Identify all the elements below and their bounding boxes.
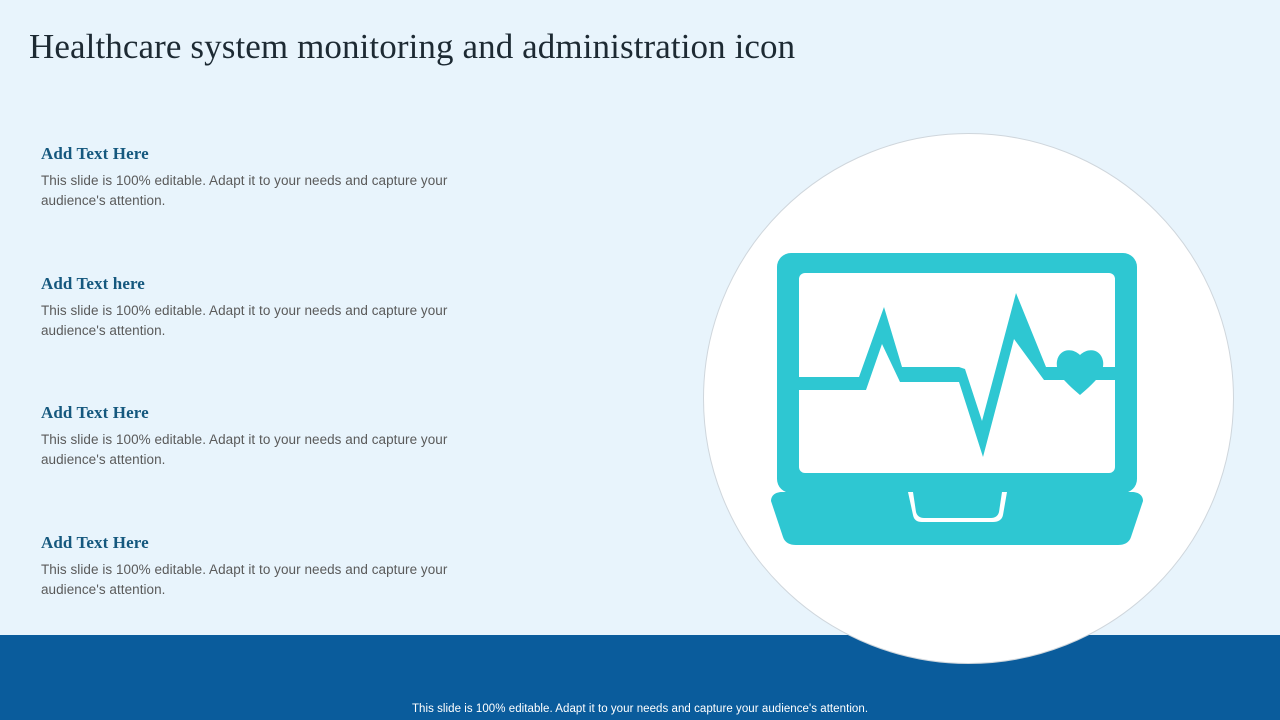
laptop-base <box>771 492 1143 545</box>
footer-caption: This slide is 100% editable. Adapt it to… <box>0 702 1280 716</box>
content-block: Add Text Here This slide is 100% editabl… <box>41 532 496 599</box>
content-block: Add Text here This slide is 100% editabl… <box>41 273 496 340</box>
content-block: Add Text Here This slide is 100% editabl… <box>41 143 496 210</box>
content-block: Add Text Here This slide is 100% editabl… <box>41 402 496 469</box>
block-body-text: This slide is 100% editable. Adapt it to… <box>41 560 489 599</box>
block-heading: Add Text Here <box>41 402 496 424</box>
slide-canvas: Healthcare system monitoring and adminis… <box>0 0 1280 720</box>
block-body-text: This slide is 100% editable. Adapt it to… <box>41 301 489 340</box>
block-heading: Add Text Here <box>41 143 496 165</box>
page-title: Healthcare system monitoring and adminis… <box>29 26 1029 68</box>
illustration-group <box>703 133 1234 664</box>
block-body-text: This slide is 100% editable. Adapt it to… <box>41 171 489 210</box>
block-body-text: This slide is 100% editable. Adapt it to… <box>41 430 489 469</box>
block-heading: Add Text Here <box>41 532 496 554</box>
laptop-ecg-heartbeat-icon <box>769 249 1169 549</box>
block-heading: Add Text here <box>41 273 496 295</box>
